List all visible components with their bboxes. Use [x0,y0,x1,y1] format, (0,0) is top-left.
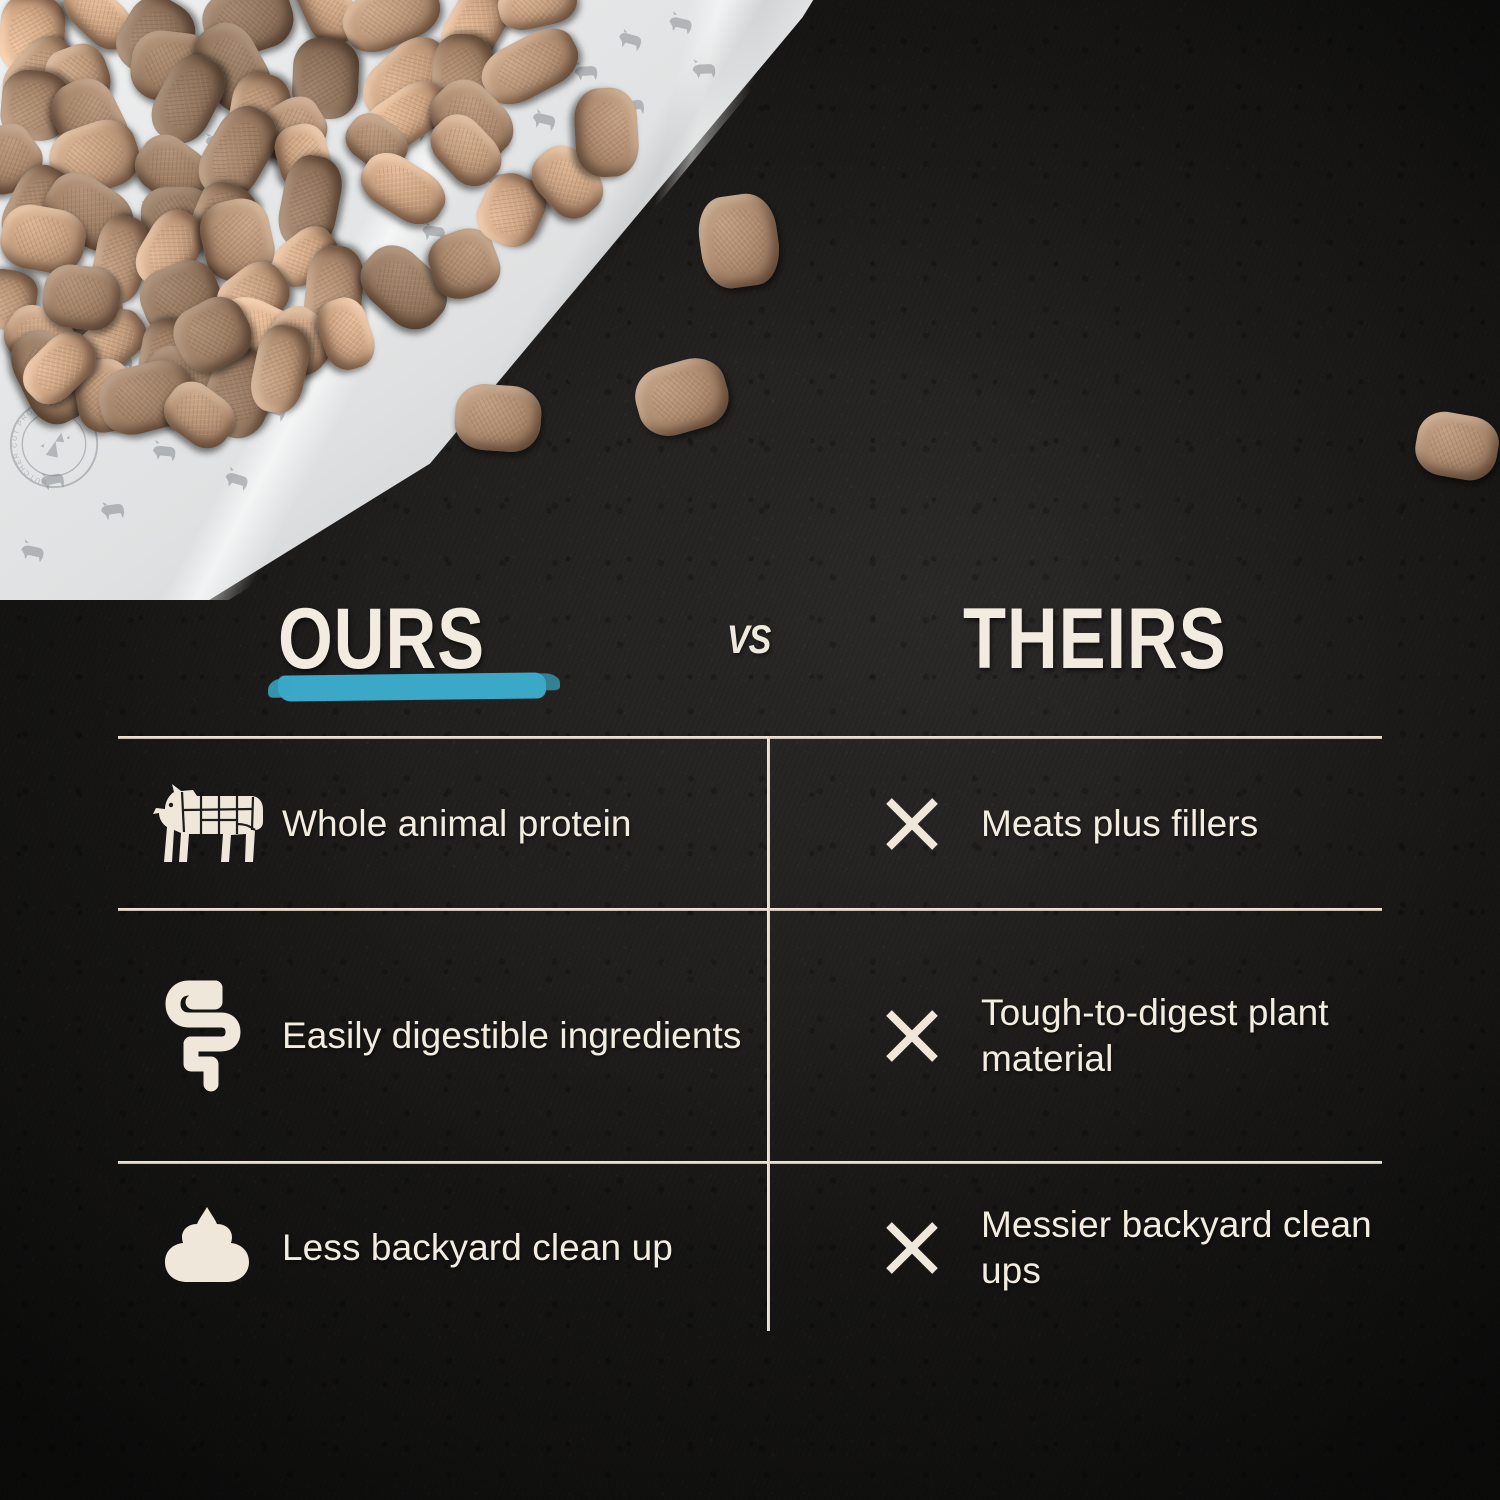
ours-header: OURS [278,596,485,682]
comparison-headers: OURS VS THEIRS [118,596,1382,736]
theirs-cell: Meats plus fillers [767,739,1382,908]
table-row: Easily digestible ingredients Tough-to-d… [118,911,1382,1161]
theirs-header: THEIRS [963,596,1227,682]
ours-cell: Less backyard clean up [118,1164,767,1331]
x-mark-icon [867,795,957,853]
kibble-piece [1411,407,1500,484]
ours-header-group: OURS [278,596,530,682]
theirs-label: Meats plus fillers [981,801,1258,847]
kibble-piece [453,382,543,454]
comparison-rows: Whole animal protein Meats plus fillers [118,736,1382,1331]
theirs-header-group: THEIRS [963,596,1284,682]
product-comparison-infographic: BUTCHER CUT PROTEIN OURS VS THEIRS [0,0,1500,1500]
x-mark-icon [867,1219,957,1277]
theirs-label: Tough-to-digest plant material [981,990,1382,1082]
ours-label: Easily digestible ingredients [282,1013,742,1059]
ours-label: Whole animal protein [282,801,632,847]
poop-icon [132,1204,282,1292]
theirs-label: Messier backyard clean ups [981,1202,1382,1294]
ours-cell: Easily digestible ingredients [118,911,767,1161]
table-row: Less backyard clean up Messier backyard … [118,1164,1382,1331]
ours-label: Less backyard clean up [282,1225,673,1271]
vs-label: VS [727,618,771,663]
theirs-cell: Messier backyard clean ups [767,1164,1382,1331]
x-mark-icon [867,1007,957,1065]
ours-cell: Whole animal protein [118,739,767,908]
table-row: Whole animal protein Meats plus fillers [118,739,1382,908]
intestine-icon [132,980,282,1092]
cow-butcher-cut-icon [132,778,282,870]
kibble-piece [628,351,736,444]
kibble-piece [694,190,784,292]
comparison-table: OURS VS THEIRS [118,596,1382,1331]
theirs-cell: Tough-to-digest plant material [767,911,1382,1161]
teal-brush-underline [278,672,546,701]
